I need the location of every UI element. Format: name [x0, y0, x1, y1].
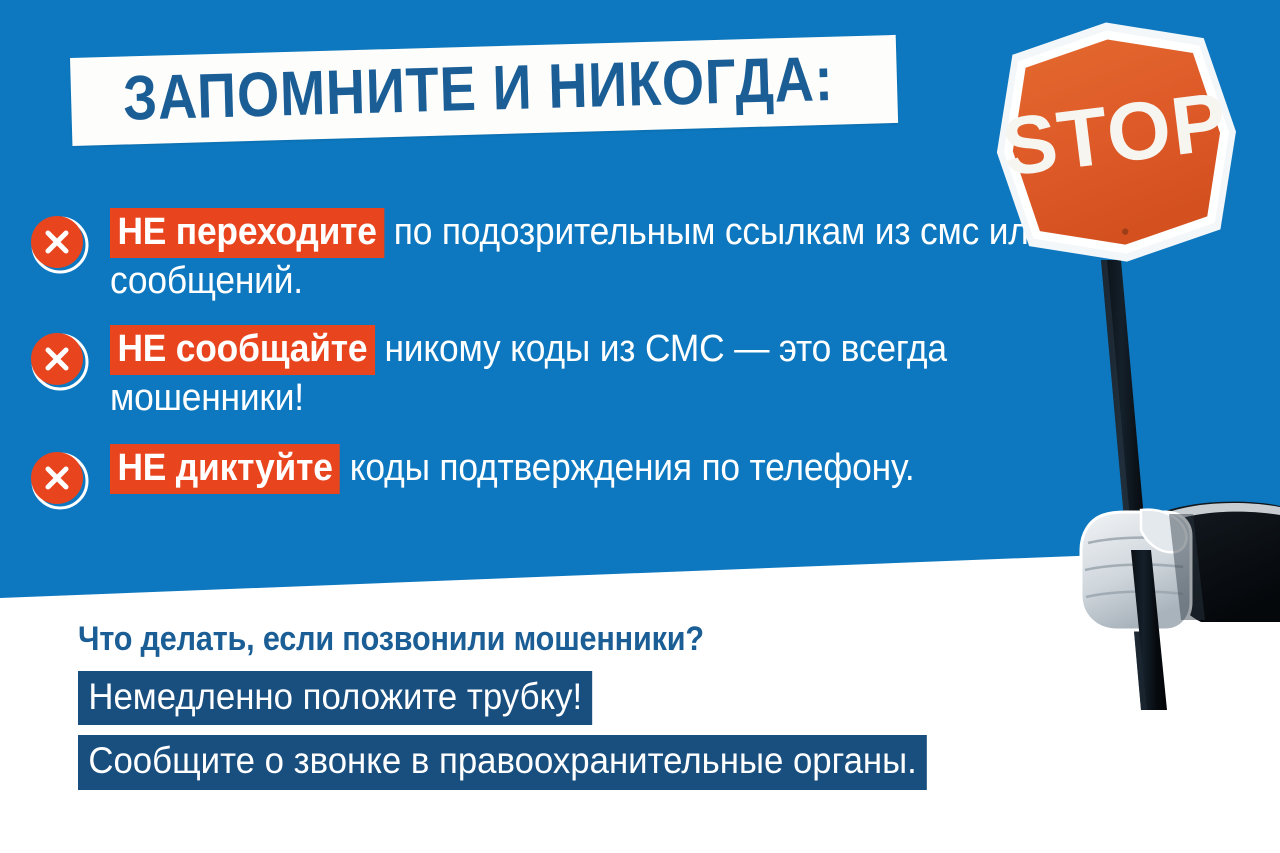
list-item-text: НЕ переходите по подозрительным ссылкам …: [110, 208, 1049, 307]
list-item: НЕ сообщайте никому коды из СМС — это вс…: [0, 325, 1050, 424]
x-circle-icon: [29, 214, 89, 274]
list-item-text: НЕ диктуйте коды подтверждения по телефо…: [110, 444, 1049, 493]
bottom-action-list: Немедленно положите трубку! Сообщите о з…: [78, 671, 1098, 800]
list-item-rest: коды подтверждения по телефону.: [340, 447, 914, 489]
list-item-text: НЕ сообщайте никому коды из СМС — это вс…: [110, 325, 1049, 424]
bottom-action-item: Сообщите о звонке в правоохранительные о…: [78, 735, 927, 789]
list-item-highlight: НЕ переходите: [110, 208, 384, 258]
warning-list: НЕ переходите по подозрительным ссылкам …: [0, 208, 1050, 511]
list-item: НЕ диктуйте коды подтверждения по телефо…: [0, 444, 1050, 493]
bottom-question: Что делать, если позвонили мошенники?: [78, 620, 996, 659]
x-circle-icon: [29, 331, 89, 391]
poster-root: ЗАПОМНИТЕ И НИКОГДА: НЕ переходите по по…: [0, 0, 1280, 853]
list-item: НЕ переходите по подозрительным ссылкам …: [0, 208, 1050, 307]
list-item-highlight: НЕ диктуйте: [110, 444, 340, 494]
page-title: ЗАПОМНИТЕ И НИКОГДА:: [122, 48, 834, 131]
x-circle-icon: [29, 450, 89, 510]
list-item-highlight: НЕ сообщайте: [110, 325, 375, 375]
bottom-section: Что делать, если позвонили мошенники? Не…: [78, 620, 1098, 800]
stop-sign: STOP: [986, 12, 1246, 272]
bottom-action-item: Немедленно положите трубку!: [78, 671, 593, 725]
stop-sign-illustration: STOP: [955, 10, 1280, 710]
